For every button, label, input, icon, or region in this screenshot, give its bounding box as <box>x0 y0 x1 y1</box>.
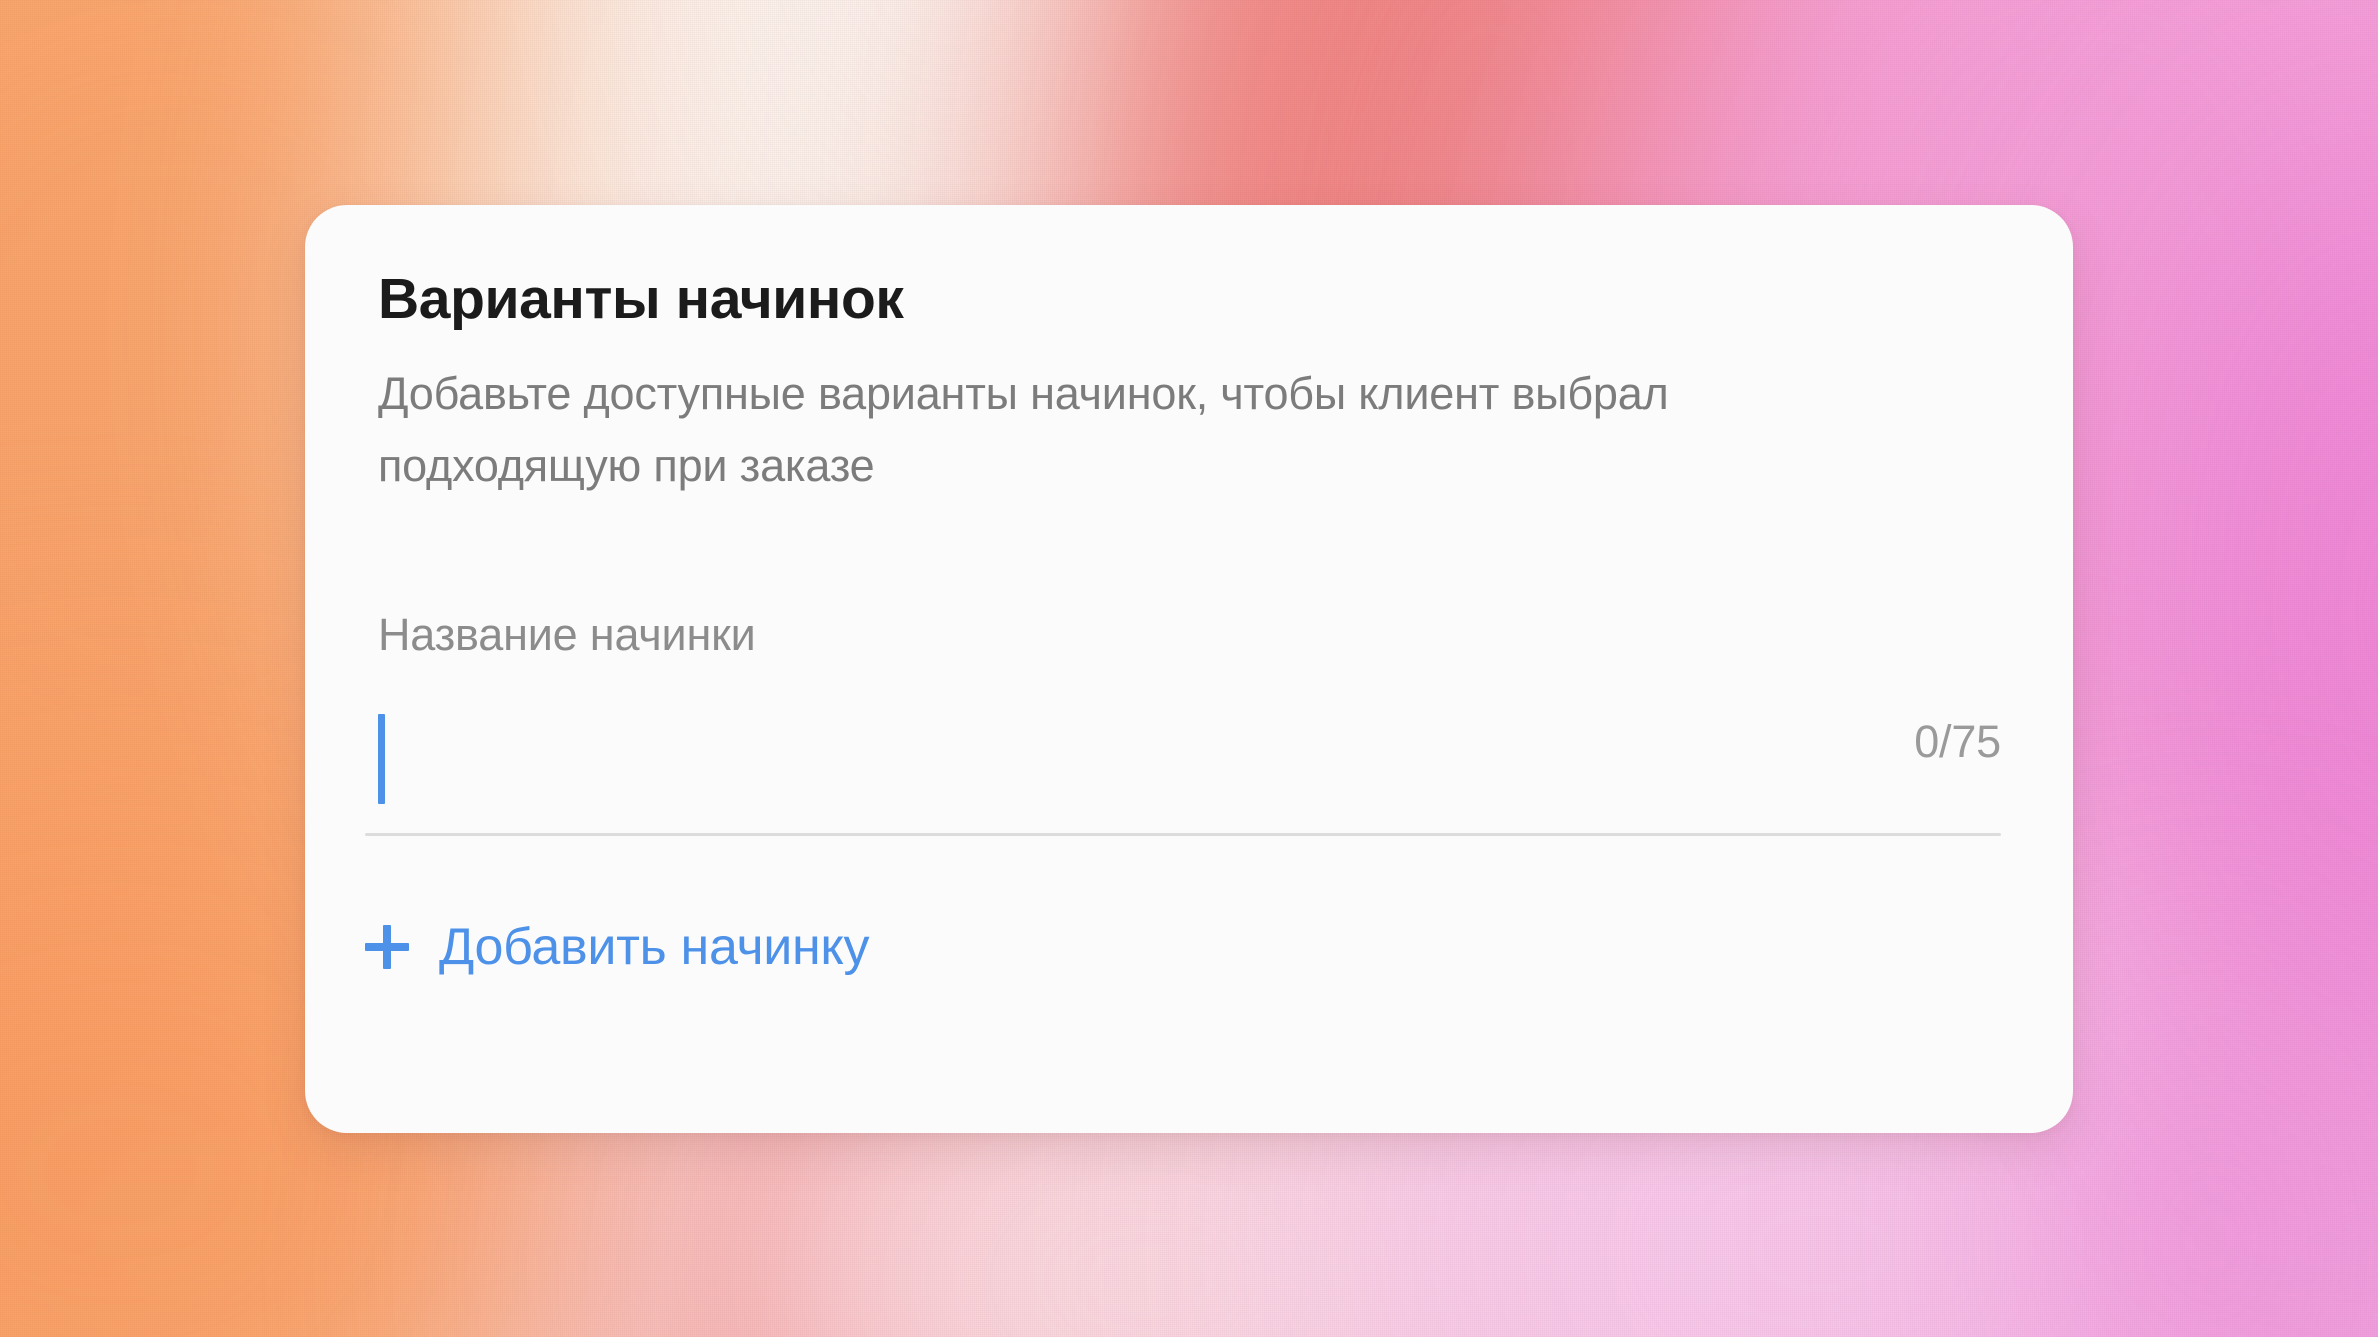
filling-name-input-row[interactable]: 0/75 <box>365 694 2001 806</box>
fillings-options-card: Варианты начинок Добавьте доступные вари… <box>305 205 2073 1133</box>
character-counter: 0/75 <box>1914 716 2001 768</box>
filling-name-label: Название начинки <box>378 609 756 661</box>
filling-name-input[interactable] <box>378 708 1758 798</box>
card-title: Варианты начинок <box>378 266 904 332</box>
add-filling-button[interactable]: Добавить начинку <box>365 917 869 977</box>
card-description: Добавьте доступные варианты начинок, что… <box>378 358 1898 502</box>
field-divider <box>365 833 2001 836</box>
plus-icon <box>365 925 409 969</box>
add-filling-label: Добавить начинку <box>439 917 869 977</box>
